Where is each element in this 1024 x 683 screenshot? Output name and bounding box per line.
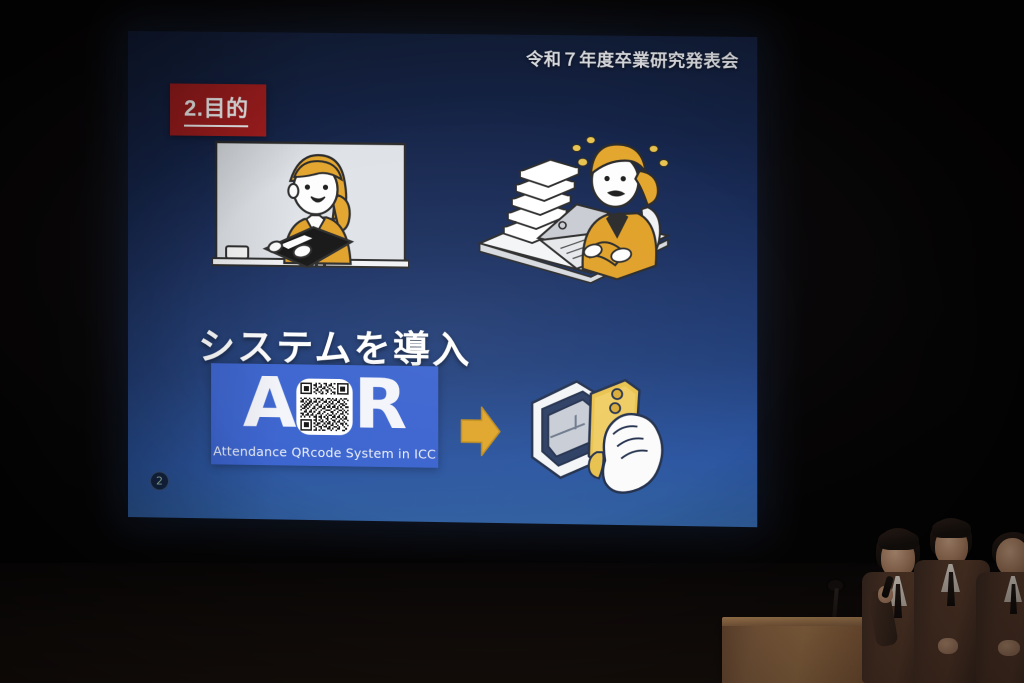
section-title-text: 2.目的 bbox=[184, 91, 249, 128]
aqr-logo-panel: A bbox=[211, 363, 438, 468]
slide-header-text: 令和７年度卒業研究発表会 bbox=[526, 45, 739, 72]
logo-letter-a: A bbox=[243, 370, 296, 437]
presenter-2-fringe bbox=[932, 519, 971, 538]
qr-code-icon bbox=[296, 378, 352, 435]
presenter-3-head bbox=[996, 538, 1024, 576]
phone-scan-illustration bbox=[508, 362, 700, 506]
aqr-logo-letters: A bbox=[211, 366, 438, 442]
office-worker-illustration bbox=[470, 125, 683, 299]
slide-page-number: 2 bbox=[150, 471, 169, 490]
projection-screen: 令和７年度卒業研究発表会 2.目的 bbox=[128, 31, 757, 527]
logo-subtitle: Attendance QRcode System in ICC bbox=[211, 443, 438, 462]
teacher-whiteboard-illustration bbox=[212, 140, 409, 289]
presenter-third bbox=[978, 532, 1024, 683]
presenter-2-hands bbox=[938, 638, 958, 654]
auditorium-stage: 令和７年度卒業研究発表会 2.目的 bbox=[0, 0, 1024, 683]
logo-letter-r: R bbox=[354, 371, 406, 438]
presenter-3-hands bbox=[998, 640, 1020, 656]
slide-content: 令和７年度卒業研究発表会 2.目的 bbox=[128, 31, 757, 527]
section-title-banner: 2.目的 bbox=[170, 83, 267, 136]
right-arrow-icon bbox=[459, 404, 501, 459]
